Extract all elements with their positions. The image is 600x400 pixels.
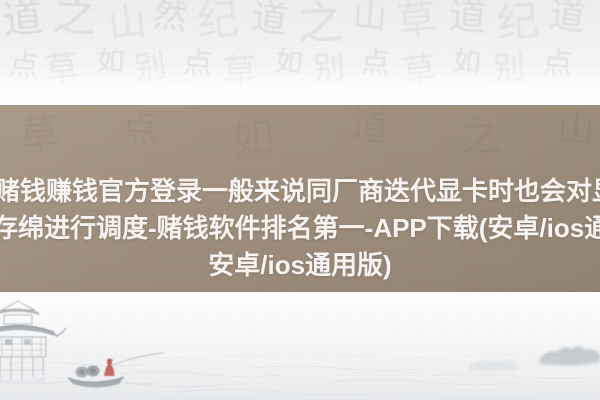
calligraphy-banner: 道 之 山 然 纪 道 之 山 草 道 纪 道 点 草 如 别 点 草 如 <box>0 0 600 105</box>
ink-wash-landscape: Chinese ink-wash painting: lakeside pavi… <box>0 292 600 400</box>
landscape-artwork <box>0 292 600 400</box>
page-root: 道 之 山 然 纪 道 之 山 草 道 纪 道 点 草 如 别 点 草 如 <box>0 0 600 400</box>
headline-line-1: 赌钱赚钱官方登录一般来说同厂商迭代显卡时也会对显 <box>0 173 594 210</box>
headline-line-3: 安卓/ios通用版) <box>0 247 600 284</box>
headline-line-2: 存绵进行调度-赌钱软件排名第一-APP下载(安卓/ios通 <box>0 210 592 247</box>
paper-bottom-fade <box>0 79 600 105</box>
headline-banner: 草 点 如 道 之 山 纪 别 彩 赌钱赚钱官方登录一般来说同厂商迭代显卡时也会… <box>0 105 600 292</box>
headline-text-block: 赌钱赚钱官方登录一般来说同厂商迭代显卡时也会对显 存绵进行调度-赌钱软件排名第一… <box>0 105 600 292</box>
